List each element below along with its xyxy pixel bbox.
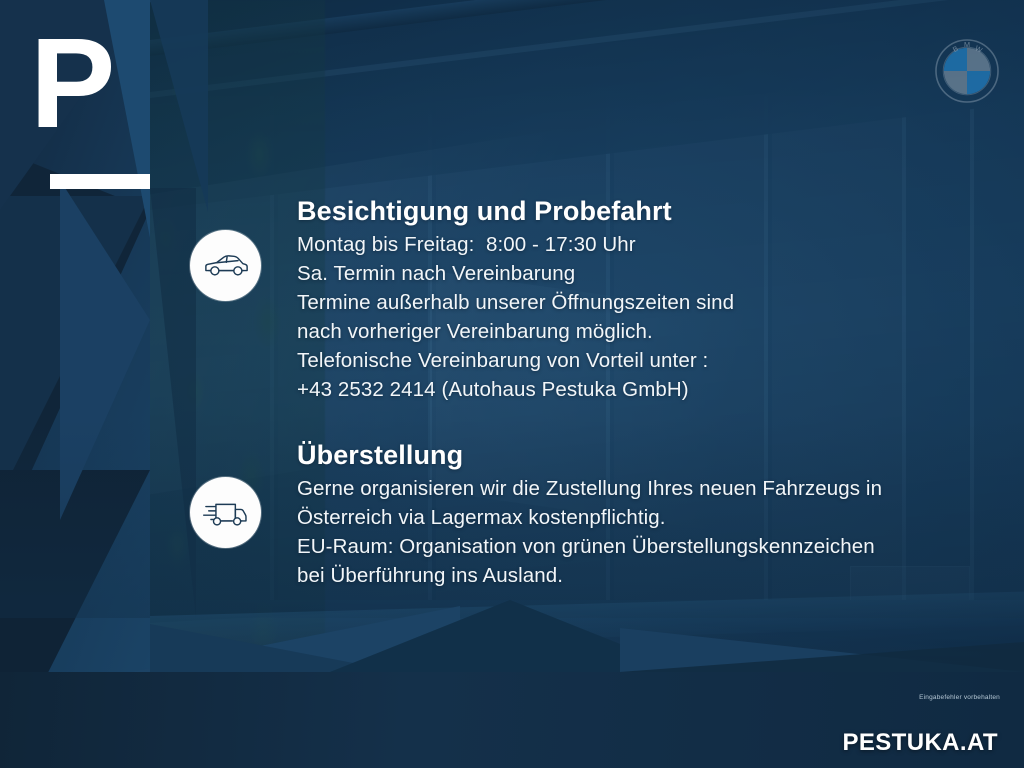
svg-text:M: M: [964, 40, 970, 49]
pestuka-p-logo: P: [30, 36, 150, 168]
section-ueberstellung: Überstellung Gerne organisieren wir die …: [190, 440, 882, 590]
bmw-roundel-icon: B M W: [934, 38, 1000, 104]
section-line: Montag bis Freitag: 8:00 - 17:30 Uhr: [297, 230, 734, 259]
delivery-truck-icon: [190, 477, 261, 548]
section-heading: Besichtigung und Probefahrt: [297, 196, 734, 228]
section-text: Überstellung Gerne organisieren wir die …: [297, 440, 882, 590]
phone-number-line: +43 2532 2414 (Autohaus Pestuka GmbH): [297, 375, 734, 404]
section-line: Sa. Termin nach Vereinbarung: [297, 259, 734, 288]
car-icon: [190, 230, 261, 301]
section-line: Termine außerhalb unserer Öffnungszeiten…: [297, 288, 734, 317]
section-line: nach vorheriger Vereinbarung möglich.: [297, 317, 734, 346]
logo-letter: P: [30, 20, 150, 148]
website-brandmark: PESTUKA.AT: [842, 729, 998, 757]
section-text: Besichtigung und Probefahrt Montag bis F…: [297, 196, 734, 404]
section-heading: Überstellung: [297, 440, 882, 472]
section-line: bei Überführung ins Ausland.: [297, 561, 882, 590]
section-line: Gerne organisieren wir die Zustellung Ih…: [297, 474, 882, 503]
facet: [150, 0, 208, 212]
promo-slide: P B M W: [0, 0, 1024, 768]
section-besichtigung: Besichtigung und Probefahrt Montag bis F…: [190, 196, 734, 404]
section-line: Österreich via Lagermax kostenpflichtig.: [297, 503, 882, 532]
logo-underline-bar: [50, 174, 150, 189]
section-line: Telefonische Vereinbarung von Vorteil un…: [297, 346, 734, 375]
facet: [620, 642, 1024, 672]
fineprint-disclaimer: Eingabefehler vorbehalten: [919, 694, 1000, 701]
section-line: EU-Raum: Organisation von grünen Überste…: [297, 532, 882, 561]
